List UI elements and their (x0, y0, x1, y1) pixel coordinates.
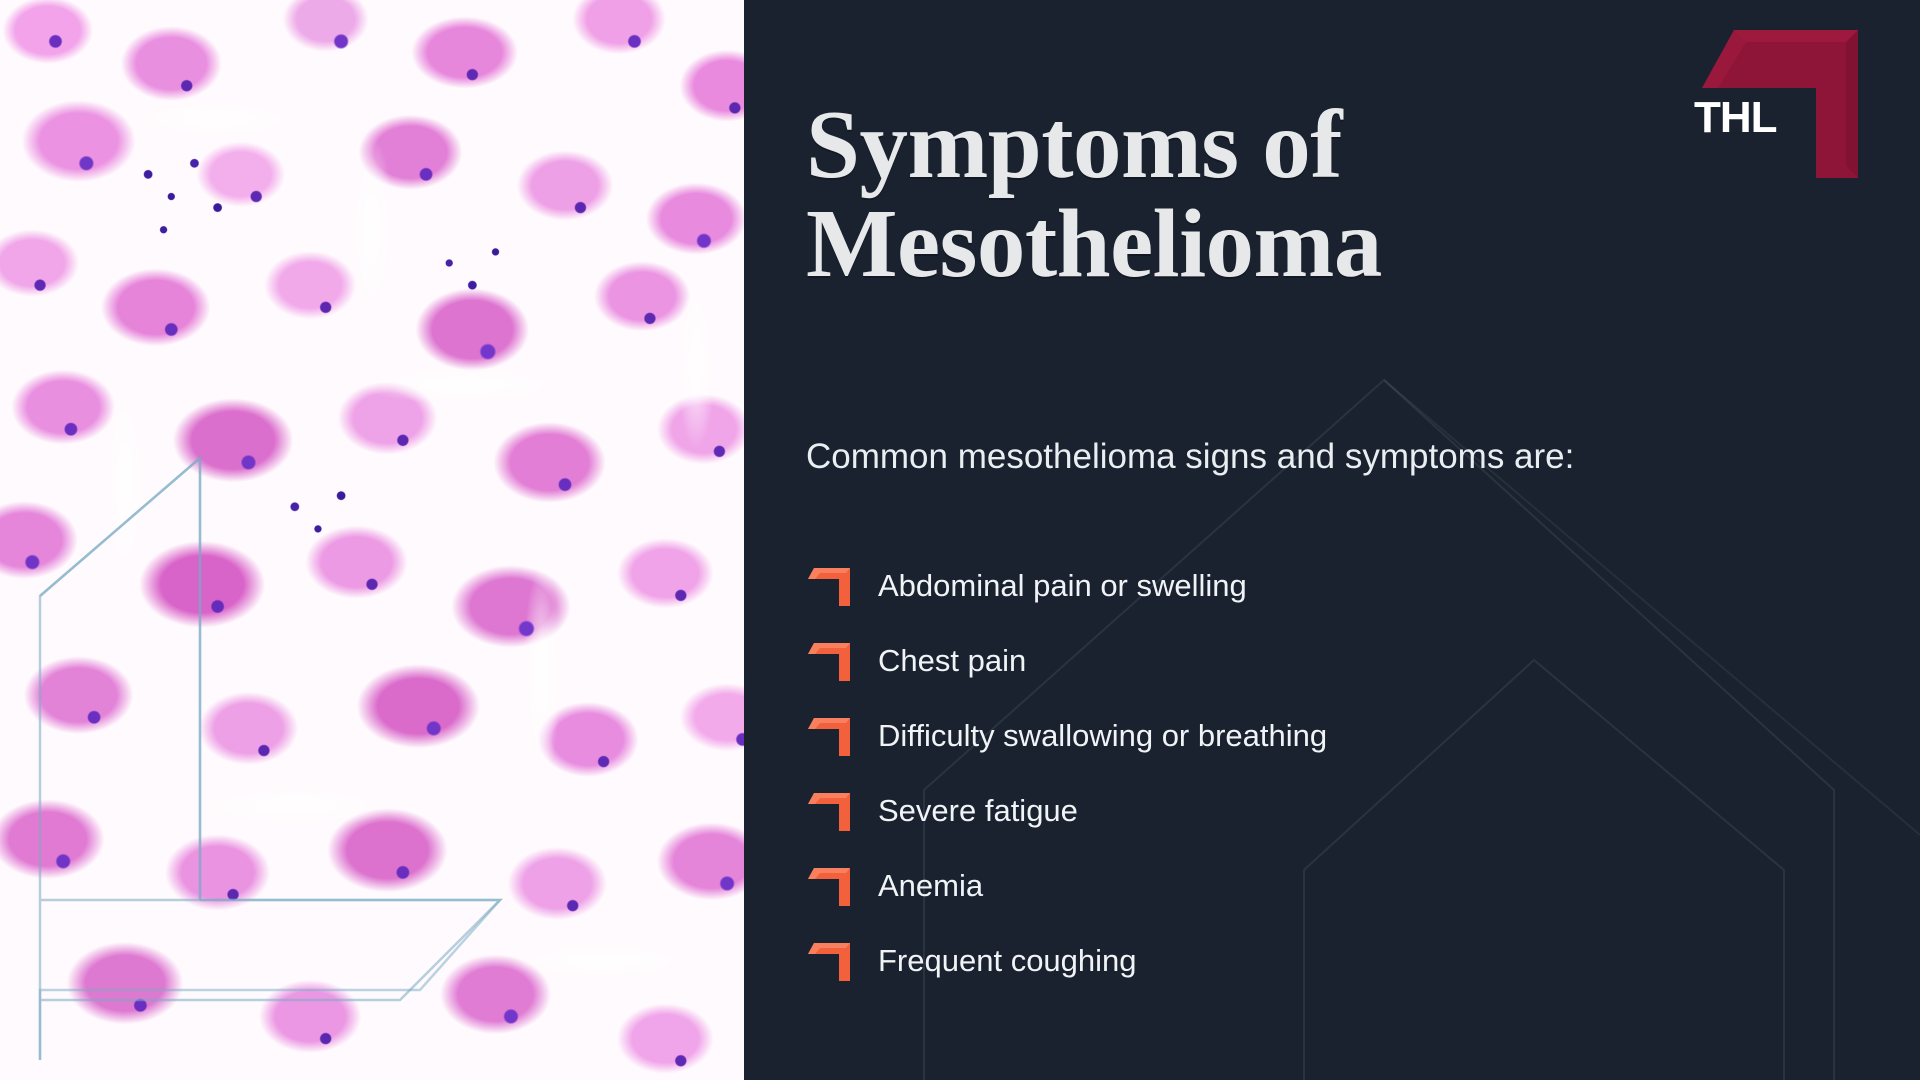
list-item: Abdominal pain or swelling (806, 548, 1706, 623)
list-item: Difficulty swallowing or breathing (806, 698, 1706, 773)
list-item: Anemia (806, 848, 1706, 923)
list-item-label: Difficulty swallowing or breathing (878, 720, 1327, 751)
slide-root: THL Symptoms of Mesothelioma Common meso… (0, 0, 1920, 1080)
corner-arrow-icon (806, 866, 852, 906)
content-panel: THL Symptoms of Mesothelioma Common meso… (744, 0, 1920, 1080)
list-item-label: Abdominal pain or swelling (878, 570, 1247, 601)
list-item-label: Severe fatigue (878, 795, 1078, 826)
corner-arrow-icon (806, 716, 852, 756)
list-item: Chest pain (806, 623, 1706, 698)
symptom-list: Abdominal pain or swelling Chest pain (806, 548, 1706, 998)
corner-arrow-icon (806, 941, 852, 981)
histology-image (0, 0, 744, 1080)
page-title-line-1: Symptoms of (806, 91, 1342, 198)
photo-chevron-watermark-icon (0, 0, 744, 1080)
corner-arrow-icon (806, 566, 852, 606)
intro-text: Common mesothelioma signs and symptoms a… (806, 436, 1886, 478)
list-item: Frequent coughing (806, 923, 1706, 998)
page-title: Symptoms of Mesothelioma (806, 96, 1756, 294)
list-item-label: Frequent coughing (878, 945, 1137, 976)
corner-arrow-icon (806, 791, 852, 831)
corner-arrow-icon (806, 641, 852, 681)
list-item-label: Anemia (878, 870, 983, 901)
list-item-label: Chest pain (878, 645, 1026, 676)
list-item: Severe fatigue (806, 773, 1706, 848)
page-title-line-2: Mesothelioma (806, 195, 1756, 294)
